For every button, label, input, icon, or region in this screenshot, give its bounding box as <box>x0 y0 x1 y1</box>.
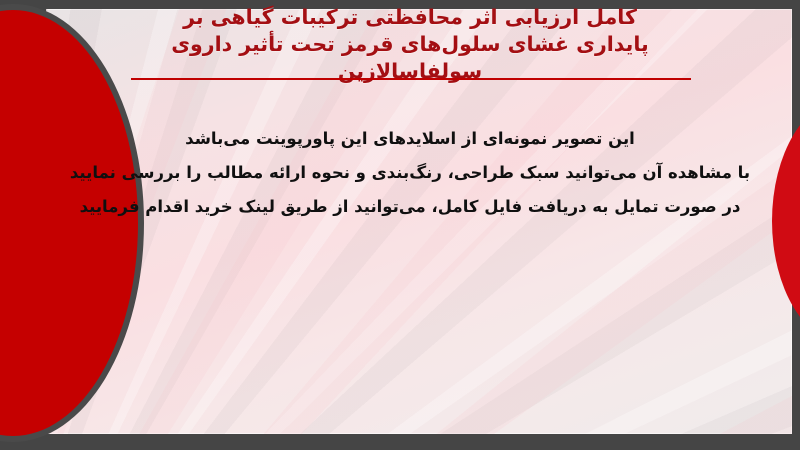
slide-title-line-2: پایداری غشای سلول‌های قرمز تحت تأثیر دار… <box>120 31 700 58</box>
slide-body-line-1: این تصویر نمونه‌ای از اسلایدهای این پاور… <box>60 122 760 156</box>
title-underline-rule <box>131 78 691 80</box>
slide-body-line-3: در صورت تمایل به دریافت فایل کامل، می‌تو… <box>60 190 760 224</box>
slide-title-line-3: سولفاسالازین <box>120 58 700 85</box>
slide-title-line-1: کامل ارزیابی اثر محافظتی ترکیبات گیاهی ب… <box>120 4 700 31</box>
presentation-slide: کامل ارزیابی اثر محافظتی ترکیبات گیاهی ب… <box>0 0 800 450</box>
slide-body-text: این تصویر نمونه‌ای از اسلایدهای این پاور… <box>60 122 760 224</box>
slide-body-line-2: با مشاهده آن می‌توانید سبک طراحی، رنگ‌بن… <box>60 156 760 190</box>
slide-title: کامل ارزیابی اثر محافظتی ترکیبات گیاهی ب… <box>120 4 700 85</box>
